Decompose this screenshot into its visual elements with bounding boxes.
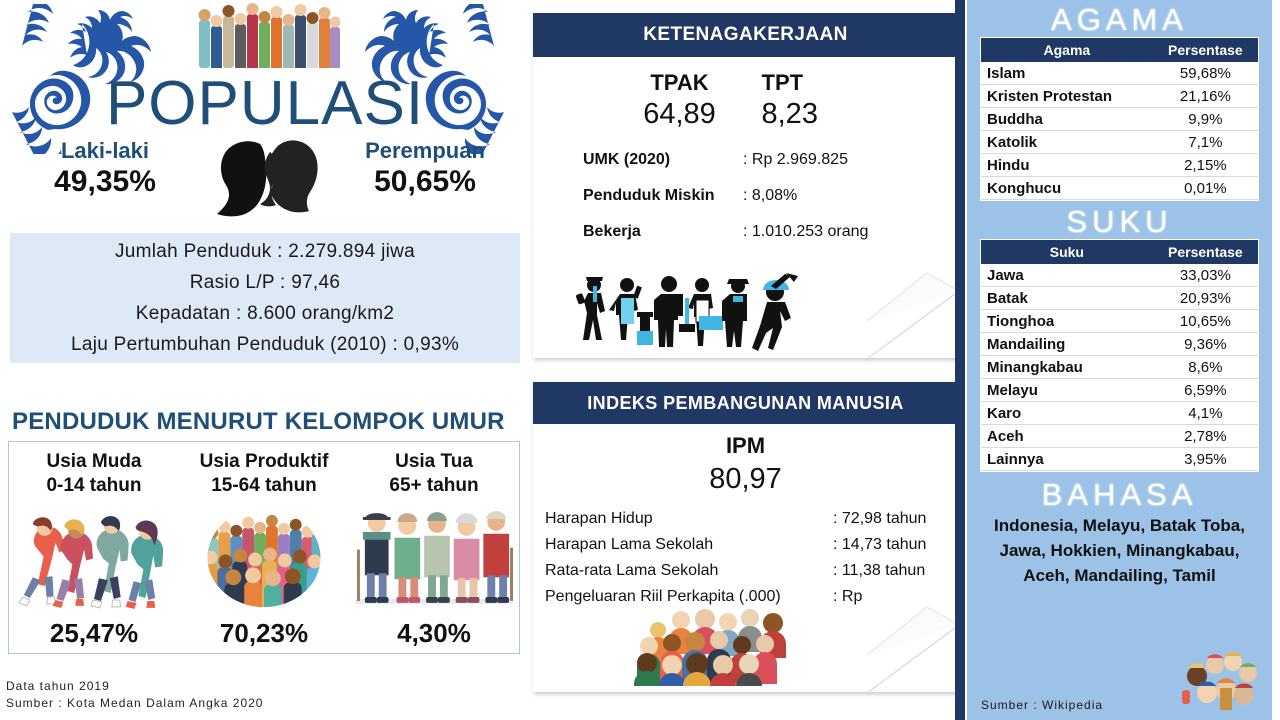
ethnicity-col-value: Persentase bbox=[1153, 240, 1258, 264]
age-group-productive: Usia Produktif 15-64 tahun bbox=[179, 442, 349, 653]
ipm-value: 80,97 bbox=[533, 460, 958, 498]
religion-percent: 7,1% bbox=[1153, 131, 1258, 154]
hdi-detail-list: Harapan Hidup : 72,98 tahun Harapan Lama… bbox=[533, 498, 958, 610]
religion-col-name: Agama bbox=[981, 38, 1153, 62]
indicators-column: KETENAGAKERJAAN TPAK 64,89 TPT 8,23 UMK … bbox=[530, 0, 967, 720]
age-group-range: 65+ tahun bbox=[389, 474, 478, 498]
employment-row-value: : 1.010.253 orang bbox=[743, 214, 868, 250]
language-section-title: BAHASA bbox=[967, 471, 1272, 513]
age-group-range: 15-64 tahun bbox=[211, 474, 317, 498]
employment-row: Bekerja : 1.010.253 orang bbox=[533, 214, 958, 250]
language-line: Jawa, Hokkien, Minangkabau, bbox=[979, 538, 1260, 563]
religion-percent: 59,68% bbox=[1153, 62, 1258, 85]
age-group-percent: 25,47% bbox=[50, 618, 138, 653]
employment-row-value: : Rp 2.969.825 bbox=[743, 142, 848, 178]
language-line: Aceh, Mandailing, Tamil bbox=[979, 563, 1260, 588]
ipm-label: IPM bbox=[533, 432, 958, 460]
ethnicity-percent: 10,65% bbox=[1153, 310, 1258, 333]
hdi-row: Pengeluaran Riil Perkapita (.000) : Rp 1… bbox=[533, 584, 958, 610]
ethnicity-percent: 4,1% bbox=[1153, 402, 1258, 425]
table-row: Karo4,1% bbox=[981, 402, 1258, 425]
stat-growth-rate: Laju Pertumbuhan Penduduk (2010) : 0,93% bbox=[71, 329, 459, 360]
workers-pictogram-illustration bbox=[575, 272, 805, 354]
ethnicity-name: Minangkabau bbox=[981, 356, 1153, 379]
language-list: Indonesia, Melayu, Batak Toba, Jawa, Hok… bbox=[967, 513, 1272, 588]
table-row: Batak20,93% bbox=[981, 287, 1258, 310]
population-stats-box: Jumlah Penduduk : 2.279.894 jiwa Rasio L… bbox=[10, 233, 520, 363]
table-row: Katolik7,1% bbox=[981, 131, 1258, 154]
ethnicity-name: Batak bbox=[981, 287, 1153, 310]
table-header-row: Agama Persentase bbox=[981, 38, 1258, 62]
religion-percent: 2,15% bbox=[1153, 154, 1258, 177]
tpak-label: TPAK bbox=[610, 69, 750, 96]
hdi-row-key: Pengeluaran Riil Perkapita (.000) bbox=[545, 584, 833, 610]
hdi-row-key: Harapan Lama Sekolah bbox=[545, 532, 833, 558]
hdi-row-value: : 72,98 tahun bbox=[833, 506, 926, 532]
ethnicity-percent: 2,78% bbox=[1153, 425, 1258, 448]
religion-percent: 9,9% bbox=[1153, 108, 1258, 131]
footer-source-line: Sumber : Kota Medan Dalam Angka 2020 bbox=[6, 695, 263, 712]
tpt-label: TPT bbox=[762, 69, 882, 96]
sidebar-accent-strip bbox=[955, 0, 965, 720]
religion-name: Kristen Protestan bbox=[981, 85, 1153, 108]
female-stat: Perempuan 50,65% bbox=[333, 138, 518, 200]
crowd-circle-illustration bbox=[179, 498, 349, 618]
religion-name: Katolik bbox=[981, 131, 1153, 154]
male-label: Laki-laki bbox=[13, 138, 198, 164]
ethnicity-name: Melayu bbox=[981, 379, 1153, 402]
hdi-row-key: Rata-rata Lama Sekolah bbox=[545, 558, 833, 584]
ethnicity-percent: 8,6% bbox=[1153, 356, 1258, 379]
ethnicity-percent: 20,93% bbox=[1153, 287, 1258, 310]
hdi-row-value: : 11,38 tahun bbox=[833, 558, 925, 584]
age-group-range: 0-14 tahun bbox=[46, 474, 141, 498]
table-row: Hindu2,15% bbox=[981, 154, 1258, 177]
tpak-value: 64,89 bbox=[610, 96, 750, 132]
table-header-row: Suku Persentase bbox=[981, 240, 1258, 264]
ethnicity-name: Jawa bbox=[981, 264, 1153, 287]
male-female-heads-icon bbox=[198, 138, 333, 218]
age-group-name: Usia Tua bbox=[395, 450, 473, 474]
male-percent: 49,35% bbox=[13, 164, 198, 200]
ethnicity-percent: 33,03% bbox=[1153, 264, 1258, 287]
hdi-row-value: : Rp 14.845 bbox=[833, 584, 916, 610]
employment-headline-stats: TPAK 64,89 TPT 8,23 bbox=[533, 57, 958, 132]
religion-name: Konghucu bbox=[981, 177, 1153, 200]
ethnicity-col-name: Suku bbox=[981, 240, 1153, 264]
stat-density: Kepadatan : 8.600 orang/km2 bbox=[136, 298, 394, 329]
employment-row-key: Bekerja bbox=[533, 214, 743, 250]
employment-row: Penduduk Miskin : 8,08% bbox=[533, 178, 958, 214]
ethnicity-name: Lainnya bbox=[981, 448, 1153, 471]
stat-sex-ratio: Rasio L/P : 97,46 bbox=[190, 267, 341, 298]
age-group-percent: 70,23% bbox=[220, 618, 308, 653]
employment-row-key: Penduduk Miskin bbox=[533, 178, 743, 214]
employment-card-header: KETENAGAKERJAAN bbox=[533, 13, 958, 57]
table-row: Melayu6,59% bbox=[981, 379, 1258, 402]
hdi-row: Rata-rata Lama Sekolah : 11,38 tahun bbox=[533, 558, 958, 584]
ethnicity-percent: 3,95% bbox=[1153, 448, 1258, 471]
employment-row-key: UMK (2020) bbox=[533, 142, 743, 178]
hdi-row-value: : 14,73 tahun bbox=[833, 532, 926, 558]
age-group-elderly: Usia Tua 65+ tahun bbox=[349, 442, 519, 653]
ethnicity-name: Karo bbox=[981, 402, 1153, 425]
tpt-stat: TPT 8,23 bbox=[762, 69, 882, 132]
diverse-people-group-illustration bbox=[625, 608, 800, 686]
traditional-costume-people-illustration bbox=[1180, 648, 1266, 710]
religion-name: Islam bbox=[981, 62, 1153, 85]
table-row: Minangkabau8,6% bbox=[981, 356, 1258, 379]
ethnicity-percent: 9,36% bbox=[1153, 333, 1258, 356]
table-row: Tionghoa10,65% bbox=[981, 310, 1258, 333]
male-stat: Laki-laki 49,35% bbox=[13, 138, 198, 200]
footer-data-year: Data tahun 2019 bbox=[6, 678, 263, 695]
hdi-card-body: IPM 80,97 Harapan Hidup : 72,98 tahun Ha… bbox=[533, 424, 958, 692]
stat-total-population: Jumlah Penduduk : 2.279.894 jiwa bbox=[115, 236, 415, 267]
religion-name: Buddha bbox=[981, 108, 1153, 131]
employment-row-value: : 8,08% bbox=[743, 178, 797, 214]
employment-detail-list: UMK (2020) : Rp 2.969.825 Penduduk Miski… bbox=[533, 132, 958, 250]
age-groups-panel: Usia Muda 0-14 tahun bbox=[8, 441, 520, 654]
hdi-row: Harapan Hidup : 72,98 tahun bbox=[533, 506, 958, 532]
sidebar-source: Sumber : Wikipedia bbox=[981, 698, 1103, 712]
table-row: Aceh2,78% bbox=[981, 425, 1258, 448]
hdi-card: INDEKS PEMBANGUNAN MANUSIA IPM 80,97 Har… bbox=[533, 382, 958, 692]
elderly-group-illustration bbox=[349, 498, 519, 618]
age-group-name: Usia Muda bbox=[46, 450, 141, 474]
ethnicity-name: Aceh bbox=[981, 425, 1153, 448]
ipm-headline-stat: IPM 80,97 bbox=[533, 424, 958, 498]
language-line: Indonesia, Melayu, Batak Toba, bbox=[979, 513, 1260, 538]
religion-percent: 21,16% bbox=[1153, 85, 1258, 108]
demographics-sidebar: AGAMA Agama Persentase Islam59,68% Krist… bbox=[967, 0, 1272, 720]
religion-name: Hindu bbox=[981, 154, 1153, 177]
employment-row: UMK (2020) : Rp 2.969.825 bbox=[533, 142, 958, 178]
gender-split: Laki-laki 49,35% Perempuan 50,65% bbox=[0, 138, 530, 220]
employment-card: KETENAGAKERJAAN TPAK 64,89 TPT 8,23 UMK … bbox=[533, 13, 958, 358]
table-row: Islam59,68% bbox=[981, 62, 1258, 85]
female-percent: 50,65% bbox=[333, 164, 518, 200]
young-people-jumping-illustration bbox=[9, 498, 179, 618]
ethnicity-section-title: SUKU bbox=[967, 200, 1272, 240]
ethnicity-table: Suku Persentase Jawa33,03% Batak20,93% T… bbox=[981, 240, 1258, 471]
table-row: Mandailing9,36% bbox=[981, 333, 1258, 356]
table-row: Buddha9,9% bbox=[981, 108, 1258, 131]
tpak-stat: TPAK 64,89 bbox=[610, 69, 750, 132]
hdi-card-header: INDEKS PEMBANGUNAN MANUSIA bbox=[533, 382, 958, 424]
hdi-row: Harapan Lama Sekolah : 14,73 tahun bbox=[533, 532, 958, 558]
hdi-row-key: Harapan Hidup bbox=[545, 506, 833, 532]
religion-table: Agama Persentase Islam59,68% Kristen Pro… bbox=[981, 38, 1258, 200]
population-column: POPULASI Laki-laki 49,35% Perempuan 50,6… bbox=[0, 0, 530, 720]
religion-section-title: AGAMA bbox=[967, 0, 1272, 38]
ethnicity-name: Mandailing bbox=[981, 333, 1153, 356]
ethnicity-percent: 6,59% bbox=[1153, 379, 1258, 402]
ethnicity-name: Tionghoa bbox=[981, 310, 1153, 333]
table-row: Lainnya3,95% bbox=[981, 448, 1258, 471]
table-row: Jawa33,03% bbox=[981, 264, 1258, 287]
page-title: POPULASI bbox=[0, 68, 530, 139]
female-label: Perempuan bbox=[333, 138, 518, 164]
footer-source: Data tahun 2019 Sumber : Kota Medan Dala… bbox=[6, 678, 263, 712]
table-row: Konghucu0,01% bbox=[981, 177, 1258, 200]
employment-card-body: TPAK 64,89 TPT 8,23 UMK (2020) : Rp 2.96… bbox=[533, 57, 958, 358]
age-group-young: Usia Muda 0-14 tahun bbox=[9, 442, 179, 653]
table-row: Kristen Protestan21,16% bbox=[981, 85, 1258, 108]
religion-col-value: Persentase bbox=[1153, 38, 1258, 62]
religion-percent: 0,01% bbox=[1153, 177, 1258, 200]
age-groups-title: PENDUDUK MENURUT KELOMPOK UMUR bbox=[12, 408, 522, 436]
age-group-percent: 4,30% bbox=[397, 618, 471, 653]
age-group-name: Usia Produktif bbox=[200, 450, 329, 474]
tpt-value: 8,23 bbox=[762, 96, 882, 132]
infographic-root: POPULASI Laki-laki 49,35% Perempuan 50,6… bbox=[0, 0, 1280, 720]
